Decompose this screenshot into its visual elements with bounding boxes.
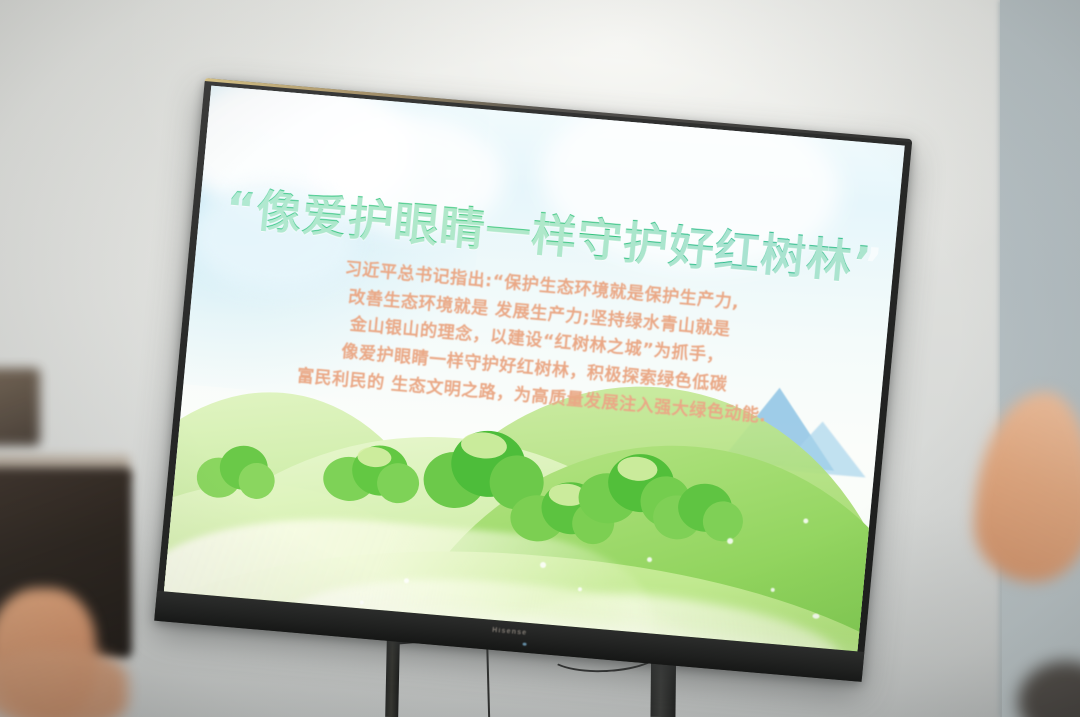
camera-equipment <box>0 368 40 446</box>
tv-bezel: “像爱护眼睛一样守护好红树林” 习近平总书记指出:“保护生态环境就是保护生产力,… <box>154 78 912 682</box>
television[interactable]: “像爱护眼睛一样守护好红树林” 习近平总书记指出:“保护生态环境就是保护生产力,… <box>154 78 912 682</box>
tv-screen[interactable]: “像爱护眼睛一样守护好红树林” 习近平总书记指出:“保护生态环境就是保护生产力,… <box>164 86 905 652</box>
tree-icon <box>321 437 423 511</box>
room-wall-right <box>1000 0 1080 717</box>
person-hand-blurred <box>0 648 128 717</box>
tree-icon <box>651 477 746 546</box>
tree-icon <box>195 442 278 504</box>
tv-brand-logo: Hisense <box>492 627 528 637</box>
power-led-icon <box>523 643 527 646</box>
stand-leg <box>385 640 400 717</box>
photo-scene: “像爱护眼睛一样守护好红树林” 习近平总书记指出:“保护生态环境就是保护生产力,… <box>0 0 1080 717</box>
presentation-slide: “像爱护眼睛一样守护好红树林” 习近平总书记指出:“保护生态环境就是保护生产力,… <box>164 86 905 652</box>
